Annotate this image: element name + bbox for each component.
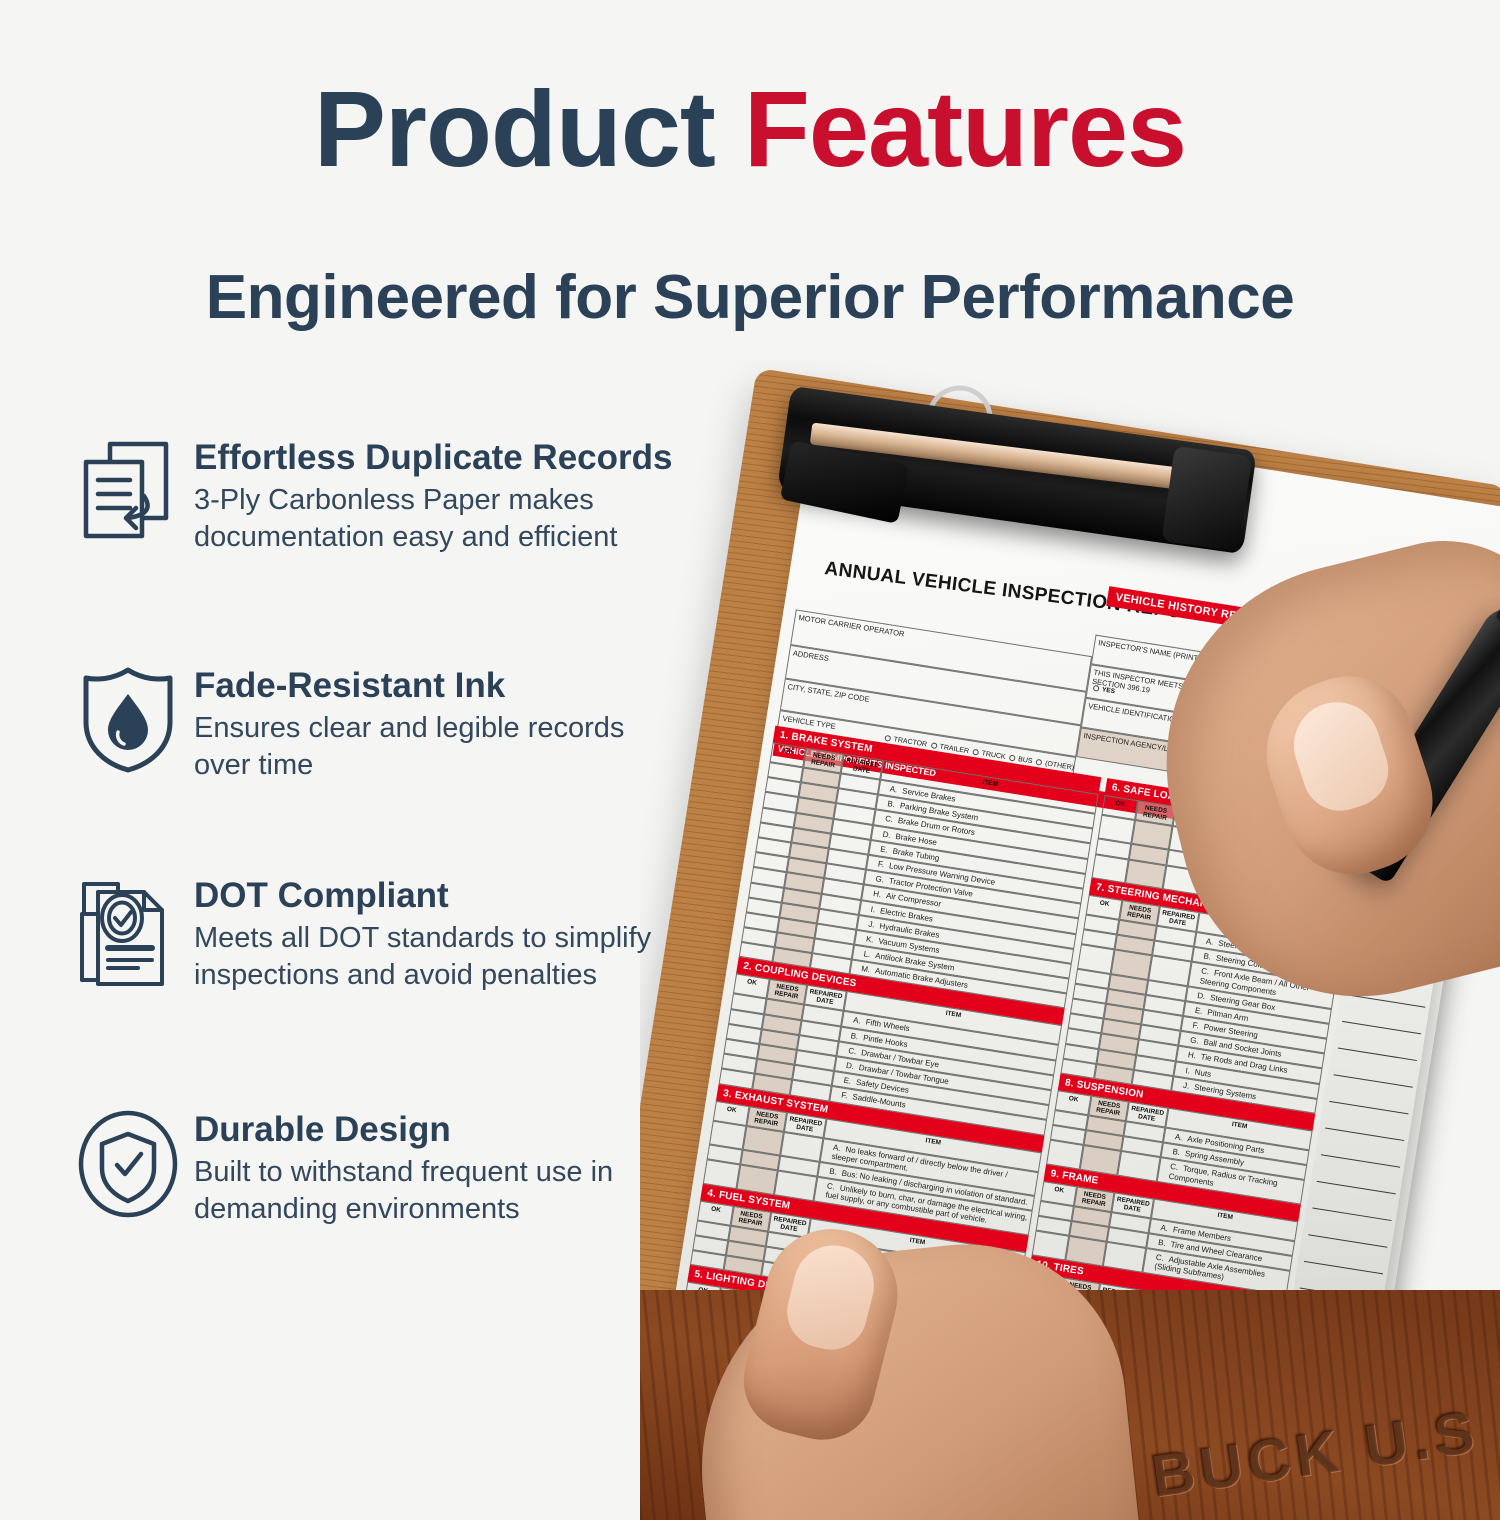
note-line [1304, 1261, 1383, 1275]
feature-item-durable-design: Durable Design Built to withstand freque… [62, 1104, 613, 1228]
note-line [1321, 1154, 1400, 1168]
feature-text-block: Fade-Resistant Ink Ensures clear and leg… [194, 660, 624, 784]
feature-title: Effortless Duplicate Records [194, 438, 672, 478]
feature-desc-line2: demanding environments [194, 1191, 613, 1228]
thumbnail-bottom [780, 1237, 883, 1357]
page-title-part1: Product [314, 68, 744, 189]
cell-ok[interactable] [1046, 1140, 1083, 1169]
note-line [1325, 1128, 1404, 1142]
note-line [1317, 1181, 1396, 1195]
feature-desc-line1: Meets all DOT standards to simplify [194, 920, 651, 957]
duplicate-documents-icon [62, 432, 194, 544]
feature-item-fade-resistant-ink: Fade-Resistant Ink Ensures clear and leg… [62, 660, 624, 784]
clipboard-brand-emboss: BUCK U.S [1147, 1396, 1483, 1510]
cell-ok[interactable] [1032, 1231, 1069, 1260]
cell-ok[interactable] [703, 1159, 740, 1188]
note-line [1334, 1074, 1413, 1088]
page-subtitle: Engineered for Superior Performance [0, 262, 1500, 333]
clip-lever[interactable] [1162, 446, 1253, 552]
feature-title: DOT Compliant [194, 876, 651, 916]
note-line [1338, 1048, 1417, 1062]
shield-check-circle-icon [62, 1104, 194, 1220]
feature-item-dot-compliant: DOT Compliant Meets all DOT standards to… [62, 870, 651, 994]
thumbnail-top [1283, 691, 1398, 820]
product-photo: ANNUAL VEHICLE INSPECTION REPORT VEHICLE… [640, 360, 1500, 1520]
note-line [1308, 1234, 1387, 1248]
feature-desc-line2: inspections and avoid penalties [194, 957, 651, 994]
cell-ok[interactable] [1091, 854, 1128, 883]
page-title-part2: Features [744, 68, 1186, 189]
feature-desc-line2: documentation easy and efficient [194, 519, 672, 556]
feature-text-block: Effortless Duplicate Records 3-Ply Carbo… [194, 432, 672, 556]
note-line [1312, 1208, 1391, 1222]
feature-text-block: Durable Design Built to withstand freque… [194, 1104, 613, 1228]
feature-title: Fade-Resistant Ink [194, 666, 624, 706]
note-line [1342, 1021, 1421, 1035]
feature-desc-line1: Ensures clear and legible records [194, 710, 624, 747]
feature-desc-line2: over time [194, 747, 624, 784]
shield-ink-drop-icon [62, 660, 194, 774]
feature-desc-line1: 3-Ply Carbonless Paper makes [194, 482, 672, 519]
certificate-shield-icon [62, 870, 194, 986]
feature-item-duplicate-records: Effortless Duplicate Records 3-Ply Carbo… [62, 432, 672, 556]
feature-desc-line1: Built to withstand frequent use in [194, 1154, 613, 1191]
feature-title: Durable Design [194, 1110, 613, 1150]
note-line [1329, 1101, 1408, 1115]
page-title: Product Features [0, 72, 1500, 185]
feature-text-block: DOT Compliant Meets all DOT standards to… [194, 870, 651, 994]
